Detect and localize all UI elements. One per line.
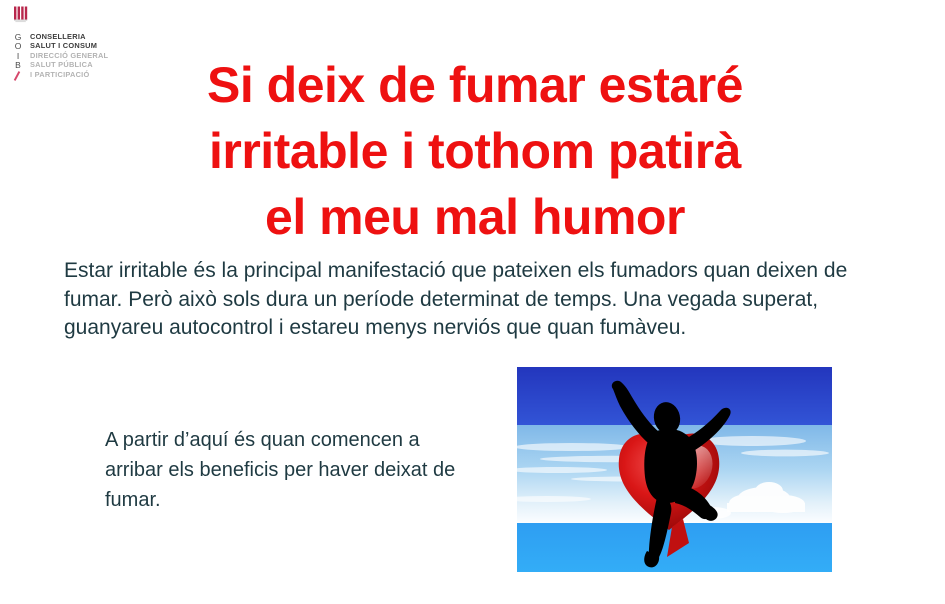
intro-paragraph: Estar irritable és la principal manifest… <box>64 257 854 343</box>
photo-artwork <box>517 367 832 572</box>
logo-line-salut-consum: SALUT I CONSUM <box>30 41 125 50</box>
logo-department-text: CONSELLERIA SALUT I CONSUM DIRECCIÓ GENE… <box>30 32 125 79</box>
slide-title: Si deix de fumar estaré irritable i toth… <box>120 52 830 250</box>
goib-slash-icon <box>13 72 24 80</box>
logo-line-salut-publica: SALUT PÚBLICA <box>30 60 125 69</box>
goib-initials: G O I B <box>10 33 26 80</box>
goib-initial-b: B <box>15 61 21 70</box>
goib-logo: G O I B CONSELLERIA SALUT I CONSUM DIREC… <box>10 6 125 80</box>
title-line-3: el meu mal humor <box>120 184 830 250</box>
title-line-1: Si deix de fumar estaré <box>120 52 830 118</box>
logo-line-participacio: I PARTICIPACIÓ <box>30 70 125 79</box>
benefit-paragraph: A partir d’aquí és quan comencen a arrib… <box>105 425 460 515</box>
jumping-silhouette-with-heart-photo <box>517 367 832 572</box>
logo-line-conselleria: CONSELLERIA <box>30 32 125 41</box>
title-line-2: irritable i tothom patirà <box>120 118 830 184</box>
logo-line-direccio: DIRECCIÓ GENERAL <box>30 51 125 60</box>
balearic-islands-crest-icon <box>13 6 32 28</box>
